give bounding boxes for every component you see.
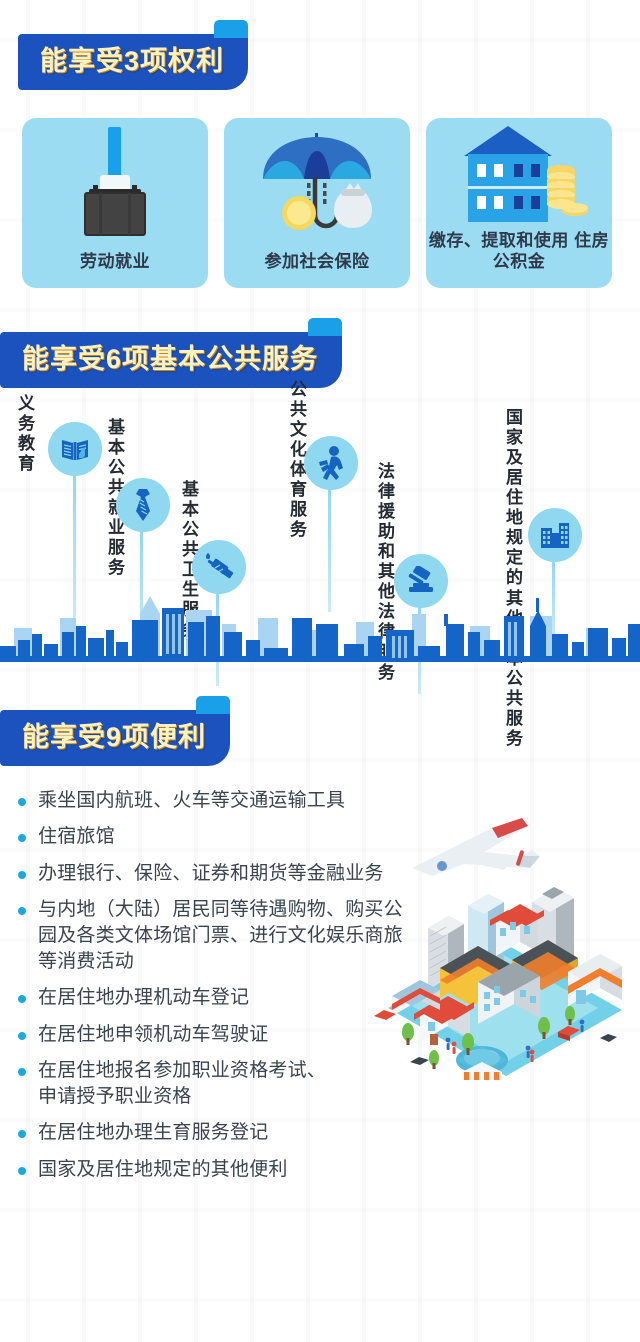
open-book-icon [48,422,102,476]
section-conveniences: 能享受9项便利 [0,662,640,1183]
list-item-text: 在居住地报名参加职业资格考试、 申请授予职业资格 [38,1058,326,1110]
buildings-icon [528,508,582,562]
list-item-text: 乘坐国内航班、火车等交通运输工具 [38,788,345,814]
list-item-text: 国家及居住地规定的其他便利 [38,1157,288,1183]
list-item[interactable]: 住宿旅馆 [16,824,640,850]
list-item-text: 与内地（大陆）居民同等待遇购物、购买公 园及各类文体场馆门票、进行文化娱乐商旅 … [38,897,403,976]
list-item[interactable]: 在居住地申领机动车驾驶证 [16,1022,640,1048]
bullet-dot-icon [18,798,26,806]
conveniences-banner-title: 能享受9项便利 [0,710,230,766]
service-pin-label: 义务教育 [18,394,35,474]
list-item-text: 办理银行、保险、证券和期货等金融业务 [38,861,384,887]
list-item[interactable]: 国家及居住地规定的其他便利 [16,1157,640,1183]
rights-banner-wrap: 能享受3项权利 [18,34,640,90]
list-item[interactable]: 与内地（大陆）居民同等待遇购物、购买公 园及各类文体场馆门票、进行文化娱乐商旅 … [16,897,640,976]
list-item-text: 在居住地办理机动车登记 [38,985,249,1011]
infographic-page: 能享受3项权利 劳 [0,0,640,1183]
section-services: 能享受6项基本公共服务 义务教育 [0,288,640,662]
bullet-dot-icon [18,995,26,1003]
house-coins-icon [426,118,612,230]
rights-banner-title: 能享受3项权利 [18,34,248,90]
list-item-text: 在居住地办理生育服务登记 [38,1120,268,1146]
list-item[interactable]: 在居住地办理生育服务登记 [16,1120,640,1146]
bullet-dot-icon [18,834,26,842]
syringe-icon [192,540,246,594]
bullet-dot-icon [18,907,26,915]
necktie-icon [116,478,170,532]
running-person-icon [304,436,358,490]
rights-card-label: 劳动就业 [80,251,150,272]
conveniences-list: 乘坐国内航班、火车等交通运输工具 住宿旅馆 办理银行、保险、证券和期货等金融业务… [0,766,640,1183]
services-pin-map: 义务教育 [0,394,640,662]
bullet-dot-icon [18,1167,26,1175]
rights-card-list: 劳动就业 [18,90,640,288]
bullet-dot-icon [18,1130,26,1138]
umbrella-coin-moneybag-icon [224,118,410,251]
list-item[interactable]: 在居住地办理机动车登记 [16,985,640,1011]
rights-card-housing-fund[interactable]: 缴存、提取和使用 住房公积金 [426,118,612,288]
list-item[interactable]: 乘坐国内航班、火车等交通运输工具 [16,788,640,814]
rights-card-social-insurance[interactable]: 参加社会保险 [224,118,410,288]
list-item[interactable]: 办理银行、保险、证券和期货等金融业务 [16,861,640,887]
list-item[interactable]: 在居住地报名参加职业资格考试、 申请授予职业资格 [16,1058,640,1110]
services-banner-wrap: 能享受6项基本公共服务 [0,332,640,388]
list-item-text: 在居住地申领机动车驾驶证 [38,1022,268,1048]
conveniences-banner-wrap: 能享受9项便利 [0,710,640,766]
rights-card-label: 缴存、提取和使用 住房公积金 [426,230,612,273]
section-rights: 能享受3项权利 劳 [0,0,640,288]
rights-card-label: 参加社会保险 [265,251,370,272]
bullet-dot-icon [18,1032,26,1040]
city-skyline-silhouette [0,588,640,662]
rights-card-employment[interactable]: 劳动就业 [22,118,208,288]
bullet-dot-icon [18,1068,26,1076]
briefcase-icon [22,118,208,251]
list-item-text: 住宿旅馆 [38,824,115,850]
bullet-dot-icon [18,871,26,879]
